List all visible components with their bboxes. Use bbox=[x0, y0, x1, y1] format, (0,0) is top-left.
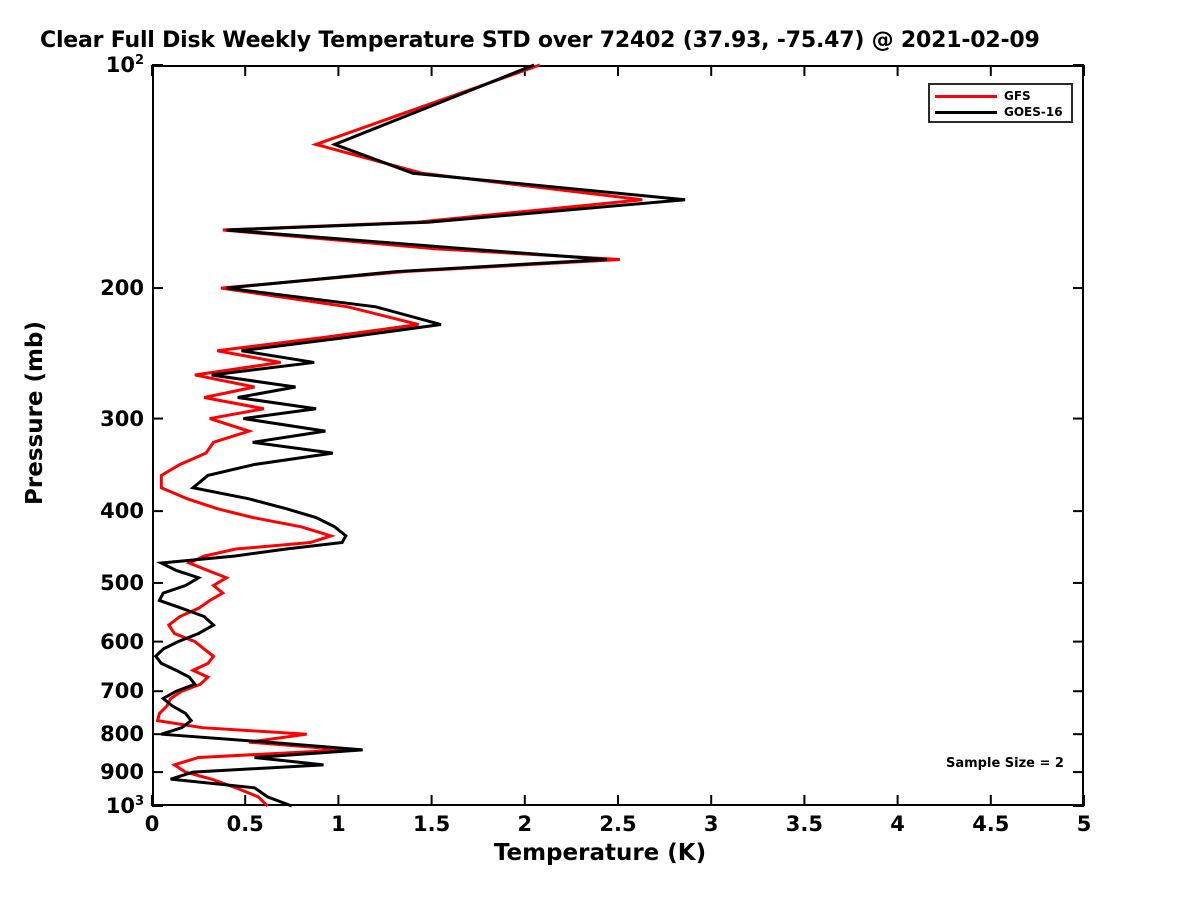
legend-line-icon-gfs bbox=[935, 95, 997, 98]
series-canvas bbox=[152, 65, 1084, 806]
y-tick-label-600: 600 bbox=[100, 630, 144, 654]
x-tick-label-3p5: 3.5 bbox=[786, 812, 823, 836]
x-tick-label-4p5: 4.5 bbox=[972, 812, 1009, 836]
y-tick-label-700: 700 bbox=[100, 679, 144, 703]
x-axis-tick-labels: 00.511.522.533.544.55 bbox=[152, 812, 1084, 844]
y-tick-label-500: 500 bbox=[100, 571, 144, 595]
legend: GFS GOES-16 bbox=[928, 83, 1073, 123]
x-tick-label-1p5: 1.5 bbox=[413, 812, 450, 836]
legend-label-goes16: GOES-16 bbox=[1004, 106, 1063, 118]
plot-area bbox=[152, 65, 1084, 806]
y-axis-title: Pressure (mb) bbox=[22, 283, 48, 543]
page-title: Clear Full Disk Weekly Temperature STD o… bbox=[40, 28, 1040, 53]
legend-item-goes16: GOES-16 bbox=[935, 104, 1066, 120]
x-tick-label-5: 5 bbox=[1077, 812, 1092, 836]
sample-size-annotation: Sample Size = 2 bbox=[946, 756, 1064, 771]
x-tick-label-1: 1 bbox=[331, 812, 346, 836]
x-tick-label-2: 2 bbox=[517, 812, 532, 836]
x-tick-label-0p5: 0.5 bbox=[227, 812, 264, 836]
y-tick-label-800: 800 bbox=[100, 722, 144, 746]
y-tick-label-300: 300 bbox=[100, 407, 144, 431]
x-tick-label-3: 3 bbox=[704, 812, 719, 836]
y-tick-label-1000: 103 bbox=[106, 794, 144, 818]
series-line-gfs bbox=[158, 65, 643, 806]
y-tick-label-200: 200 bbox=[100, 276, 144, 300]
chart-page: Clear Full Disk Weekly Temperature STD o… bbox=[0, 0, 1200, 900]
y-tick-label-100: 102 bbox=[106, 53, 144, 77]
legend-item-gfs: GFS bbox=[935, 88, 1066, 104]
legend-line-icon-goes16 bbox=[935, 111, 997, 114]
x-tick-label-0: 0 bbox=[145, 812, 160, 836]
y-tick-label-900: 900 bbox=[100, 760, 144, 784]
y-tick-label-400: 400 bbox=[100, 499, 144, 523]
y-axis-tick-labels: 102200300400500600700800900103 bbox=[52, 65, 144, 806]
legend-label-gfs: GFS bbox=[1004, 90, 1031, 102]
x-tick-label-2p5: 2.5 bbox=[599, 812, 636, 836]
x-tick-label-4: 4 bbox=[890, 812, 905, 836]
